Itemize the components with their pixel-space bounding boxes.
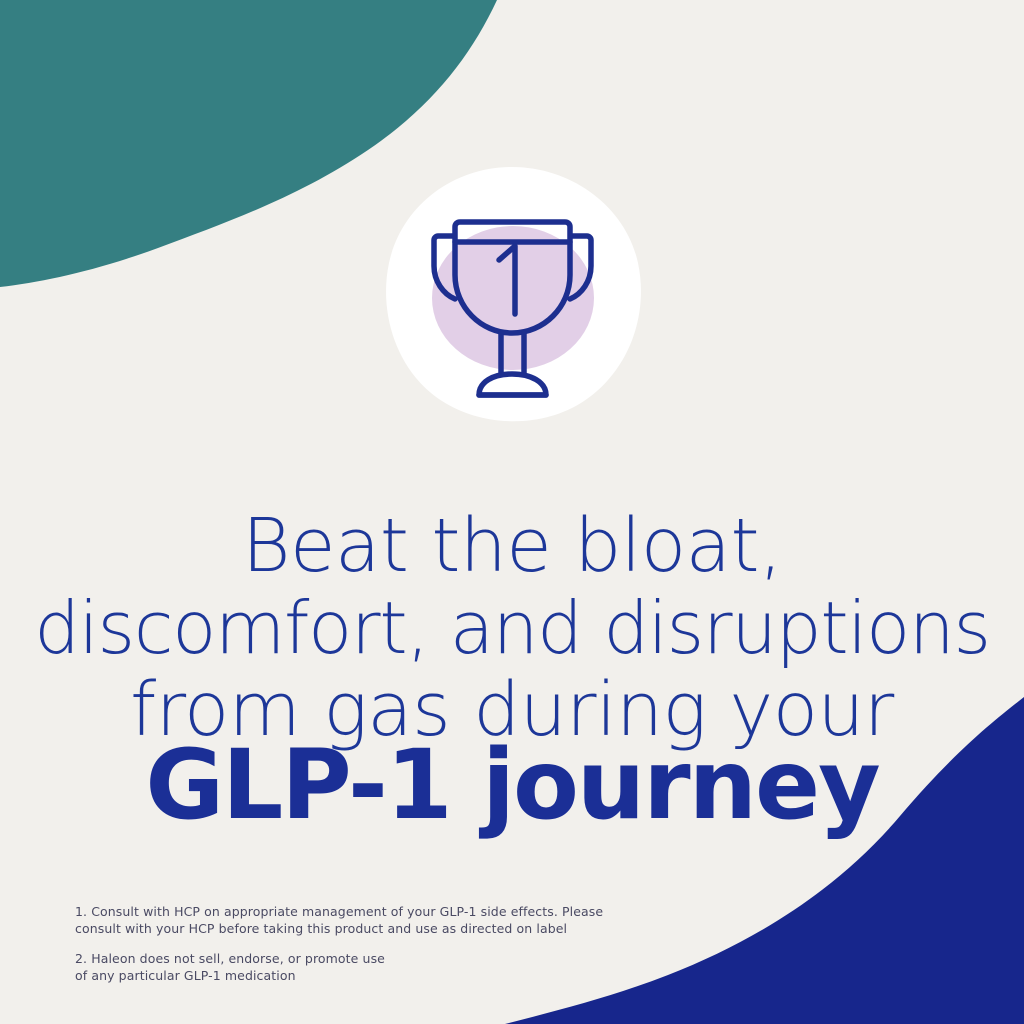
- footnote-2: 2. Haleon does not sell, endorse, or pro…: [75, 950, 635, 984]
- footnote-2-line-1: 2. Haleon does not sell, endorse, or pro…: [75, 950, 635, 967]
- promotional-poster: Beat the bloat, discomfort, and disrupti…: [0, 0, 1024, 1024]
- headline-line-1: Beat the bloat,: [0, 505, 1024, 587]
- footnote-2-line-2: of any particular GLP-1 medication: [75, 967, 635, 984]
- headline-emphasis: GLP-1 journey: [0, 733, 1024, 837]
- footnote-1-line-1: 1. Consult with HCP on appropriate manag…: [75, 903, 635, 920]
- footnote-1: 1. Consult with HCP on appropriate manag…: [75, 903, 635, 937]
- trophy-badge: [376, 163, 648, 425]
- headline-line-2: discomfort, and disruptions: [0, 587, 1024, 669]
- headline: Beat the bloat, discomfort, and disrupti…: [0, 505, 1024, 751]
- footnote-1-line-2: consult with your HCP before taking this…: [75, 920, 635, 937]
- footnotes: 1. Consult with HCP on appropriate manag…: [75, 903, 635, 984]
